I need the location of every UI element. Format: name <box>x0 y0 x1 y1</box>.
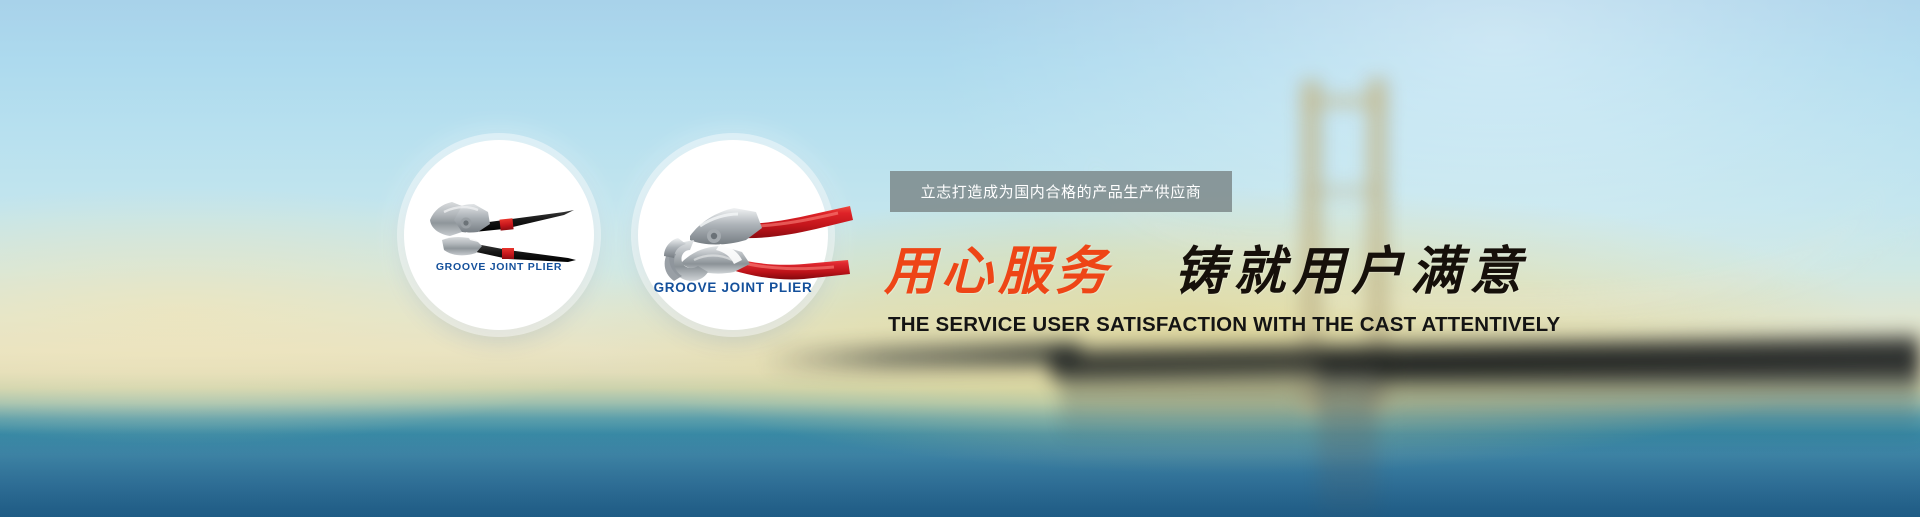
groove-joint-plier-red-icon <box>638 140 828 330</box>
product-circle-2[interactable]: GROOVE JOINT PLIER <box>638 140 828 330</box>
groove-joint-plier-black-icon <box>404 140 594 330</box>
headline-subline: THE SERVICE USER SATISFACTION WITH THE C… <box>888 313 1560 337</box>
product-circle-1[interactable]: GROOVE JOINT PLIER <box>404 140 594 330</box>
headline-secondary: 铸就用户满意 <box>1174 242 1528 302</box>
tagline-text: 立志打造成为国内合格的产品生产供应商 <box>921 181 1202 202</box>
headline: 用心服务 铸就用户满意 <box>884 246 1528 298</box>
product-label: GROOVE JOINT PLIER <box>404 261 594 273</box>
hero-banner: GROOVE JOINT PLIER <box>0 0 1920 517</box>
headline-primary: 用心服务 <box>884 242 1112 302</box>
product-label: GROOVE JOINT PLIER <box>638 280 828 295</box>
tagline-bar: 立志打造成为国内合格的产品生产供应商 <box>890 171 1232 212</box>
